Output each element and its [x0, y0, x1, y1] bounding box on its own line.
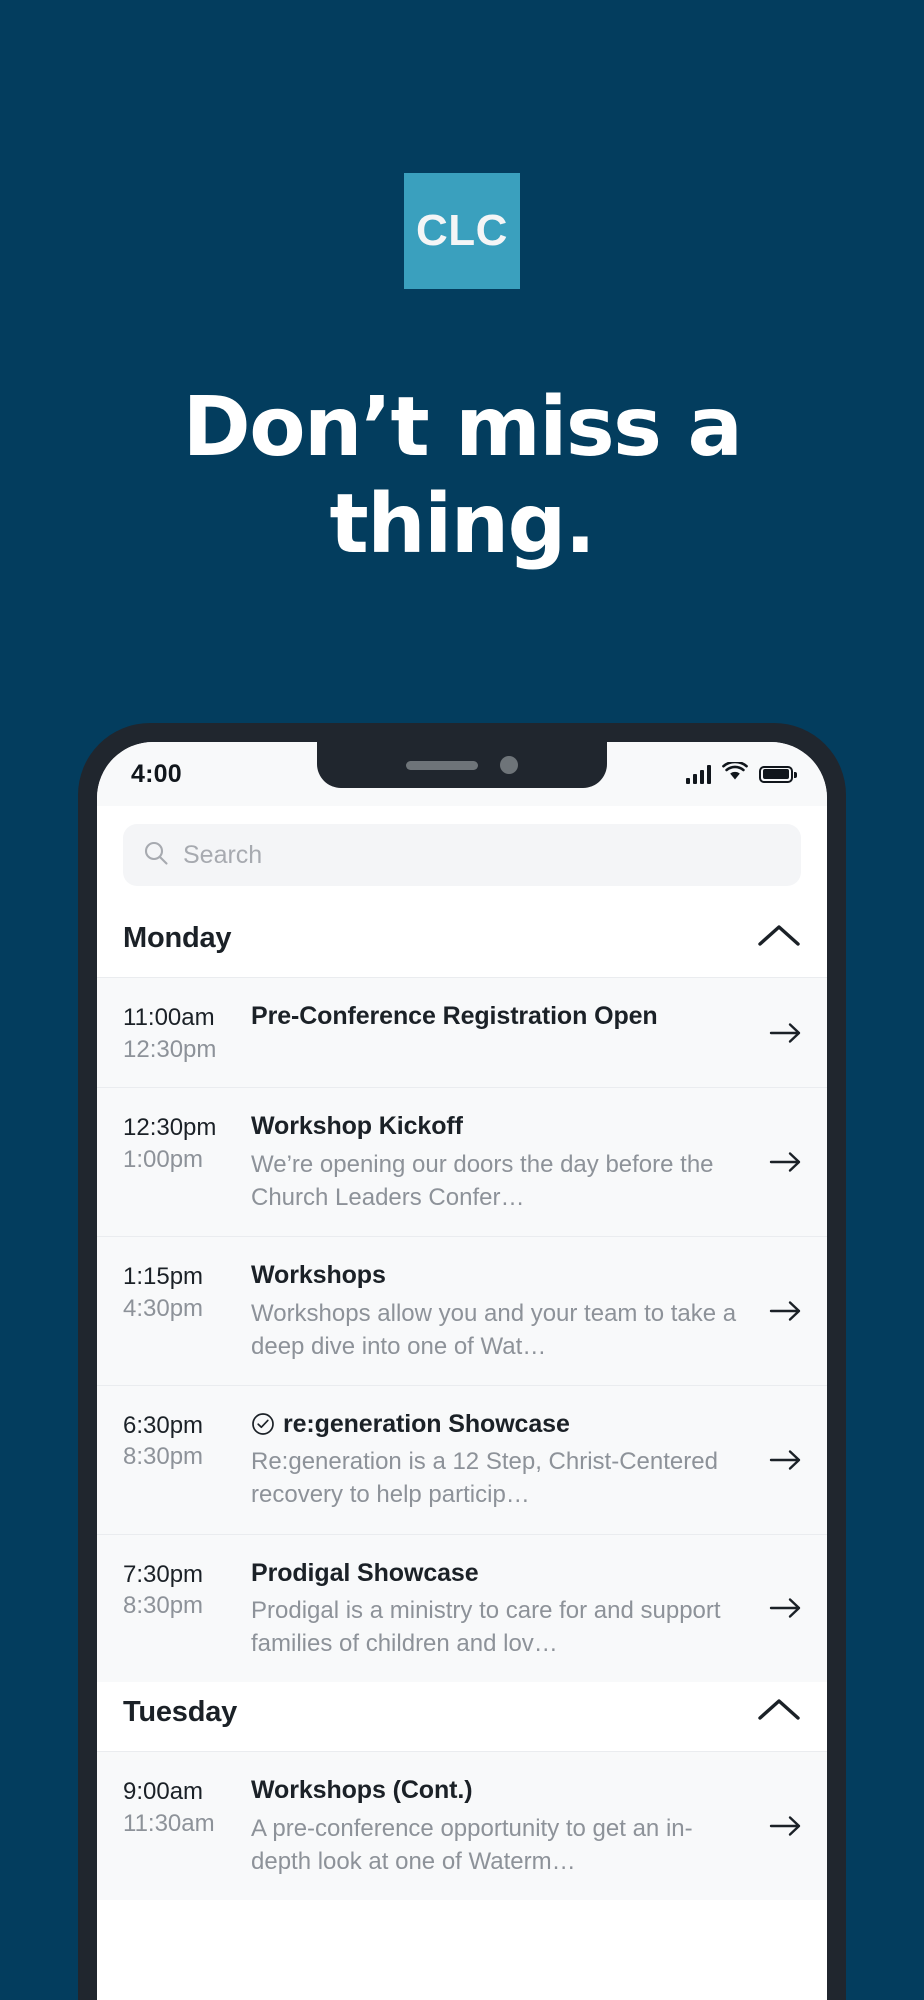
status-time: 4:00: [131, 760, 182, 789]
app-store-promo-screen: CLC Don’t miss a thing. 4:00: [0, 0, 924, 2000]
clc-logo: CLC: [404, 173, 520, 289]
headline-line-1: Don’t miss a: [0, 380, 924, 477]
event-end-time: 8:30pm: [123, 1590, 251, 1622]
day-header-tuesday[interactable]: Tuesday: [97, 1682, 827, 1751]
arrow-right-icon[interactable]: [757, 1596, 803, 1620]
event-title-text: Pre-Conference Registration Open: [251, 1000, 658, 1033]
event-end-time: 11:30am: [123, 1808, 251, 1840]
event-title: Pre-Conference Registration Open: [251, 1000, 745, 1033]
event-start-time: 12:30pm: [123, 1112, 251, 1144]
event-end-time: 12:30pm: [123, 1034, 251, 1066]
battery-full-icon: [759, 766, 793, 783]
event-description: Workshops allow you and your team to tak…: [251, 1297, 745, 1363]
arrow-right-icon[interactable]: [757, 1299, 803, 1323]
event-description: A pre-conference opportunity to get an i…: [251, 1812, 745, 1878]
event-body: Workshop KickoffWe’re opening our doors …: [251, 1110, 757, 1214]
phone-notch: [317, 742, 607, 788]
event-title: Prodigal Showcase: [251, 1557, 745, 1590]
event-title-text: Workshops (Cont.): [251, 1774, 472, 1807]
event-start-time: 11:00am: [123, 1002, 251, 1034]
event-body: re:generation ShowcaseRe:generation is a…: [251, 1408, 757, 1512]
agenda-event-row[interactable]: 7:30pm8:30pmProdigal ShowcaseProdigal is…: [97, 1534, 827, 1683]
chevron-up-icon[interactable]: [757, 1697, 801, 1728]
event-end-time: 8:30pm: [123, 1441, 251, 1473]
search-icon: [143, 840, 169, 871]
event-end-time: 4:30pm: [123, 1293, 251, 1325]
event-time-range: 7:30pm8:30pm: [123, 1557, 251, 1622]
chevron-up-icon[interactable]: [757, 923, 801, 954]
event-title: Workshops (Cont.): [251, 1774, 745, 1807]
agenda-event-row[interactable]: 6:30pm8:30pmre:generation ShowcaseRe:gen…: [97, 1385, 827, 1534]
event-time-range: 1:15pm4:30pm: [123, 1259, 251, 1324]
event-title-text: re:generation Showcase: [283, 1408, 570, 1441]
headline-line-2: thing.: [0, 477, 924, 574]
earpiece-speaker: [406, 761, 478, 770]
event-title-text: Prodigal Showcase: [251, 1557, 479, 1590]
phone-mockup: 4:00: [78, 723, 846, 2000]
event-description: Prodigal is a ministry to care for and s…: [251, 1594, 745, 1660]
event-start-time: 9:00am: [123, 1776, 251, 1808]
agenda-event-row[interactable]: 12:30pm1:00pmWorkshop KickoffWe’re openi…: [97, 1087, 827, 1236]
event-description: We’re opening our doors the day before t…: [251, 1148, 745, 1214]
event-title: re:generation Showcase: [251, 1408, 745, 1441]
phone-screen: 4:00: [97, 742, 827, 2000]
front-camera-icon: [500, 756, 518, 774]
event-title-text: Workshops: [251, 1259, 386, 1292]
page-title: Don’t miss a thing.: [0, 380, 924, 574]
agenda-event-row[interactable]: 1:15pm4:30pmWorkshopsWorkshops allow you…: [97, 1236, 827, 1385]
event-start-time: 6:30pm: [123, 1410, 251, 1442]
agenda-list: Monday11:00am12:30pmPre-Conference Regis…: [97, 908, 827, 1900]
day-header-label: Monday: [123, 922, 231, 955]
search-section: Search: [97, 806, 827, 908]
day-header-monday[interactable]: Monday: [97, 908, 827, 977]
event-time-range: 12:30pm1:00pm: [123, 1110, 251, 1175]
event-end-time: 1:00pm: [123, 1144, 251, 1176]
cellular-bars-icon: [686, 765, 712, 784]
search-input[interactable]: Search: [123, 824, 801, 886]
event-body: Pre-Conference Registration Open: [251, 1000, 757, 1033]
event-title: Workshop Kickoff: [251, 1110, 745, 1143]
arrow-right-icon[interactable]: [757, 1814, 803, 1838]
event-start-time: 7:30pm: [123, 1559, 251, 1591]
event-body: Prodigal ShowcaseProdigal is a ministry …: [251, 1557, 757, 1661]
arrow-right-icon[interactable]: [757, 1150, 803, 1174]
event-time-range: 11:00am12:30pm: [123, 1000, 251, 1065]
agenda-event-row[interactable]: 11:00am12:30pmPre-Conference Registratio…: [97, 977, 827, 1087]
event-start-time: 1:15pm: [123, 1261, 251, 1293]
event-time-range: 6:30pm8:30pm: [123, 1408, 251, 1473]
event-description: Re:generation is a 12 Step, Christ-Cente…: [251, 1445, 745, 1511]
wifi-icon: [722, 762, 748, 786]
clc-logo-text: CLC: [416, 209, 508, 253]
day-header-label: Tuesday: [123, 1696, 237, 1729]
agenda-event-row[interactable]: 9:00am11:30amWorkshops (Cont.)A pre-conf…: [97, 1751, 827, 1900]
arrow-right-icon[interactable]: [757, 1448, 803, 1472]
status-icons: [686, 762, 794, 786]
arrow-right-icon[interactable]: [757, 1021, 803, 1045]
event-time-range: 9:00am11:30am: [123, 1774, 251, 1839]
check-circle-icon: [251, 1412, 275, 1436]
event-body: WorkshopsWorkshops allow you and your te…: [251, 1259, 757, 1363]
event-title-text: Workshop Kickoff: [251, 1110, 463, 1143]
search-placeholder: Search: [183, 841, 262, 870]
event-title: Workshops: [251, 1259, 745, 1292]
event-body: Workshops (Cont.)A pre-conference opport…: [251, 1774, 757, 1878]
